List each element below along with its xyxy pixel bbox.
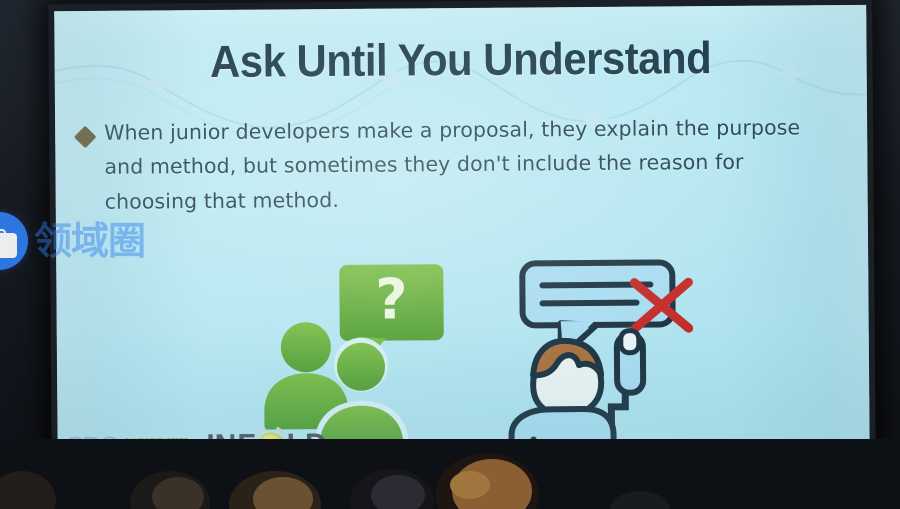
audience-silhouettes — [0, 439, 900, 509]
bullet-text: When junior developers make a proposal, … — [104, 110, 801, 219]
person-raising-hand-crossed-bubble-icon — [504, 256, 721, 458]
body-line-2: and method, but sometimes they don't inc… — [104, 145, 800, 185]
projection-screen: Ask Until You Understand When junior dev… — [54, 5, 870, 470]
presentation-photo: Ask Until You Understand When junior dev… — [0, 0, 900, 509]
svg-text:?: ? — [375, 267, 408, 332]
two-people-question-bubble-icon: ? — [261, 260, 452, 451]
body-line-3: choosing that method. — [105, 179, 801, 219]
slide-title: Ask Until You Understand — [83, 31, 839, 89]
body-line-1: When junior developers make a proposal, … — [104, 110, 800, 150]
diamond-bullet-icon — [74, 126, 97, 149]
slide-content: Ask Until You Understand When junior dev… — [54, 5, 870, 470]
bullet-item: When junior developers make a proposal, … — [77, 110, 850, 219]
slide-body: When junior developers make a proposal, … — [77, 110, 850, 219]
